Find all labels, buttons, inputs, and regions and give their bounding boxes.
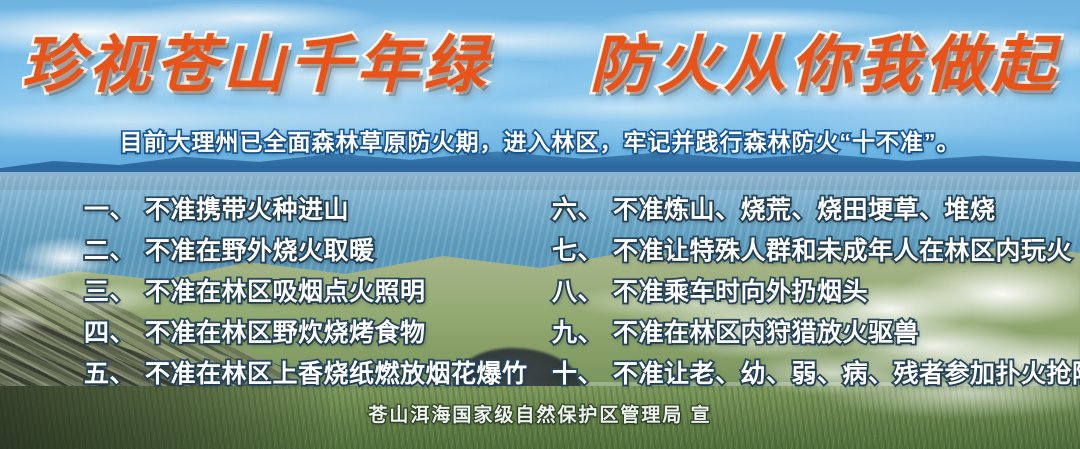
rule-item: 九、不准在林区内狩猎放火驱兽	[552, 313, 1052, 354]
rule-text: 不准让特殊人群和未成年人在林区内玩火	[613, 237, 1072, 265]
rule-number: 八、	[552, 278, 603, 306]
rule-item: 二、不准在野外烧火取暖	[84, 231, 524, 272]
rule-number: 四、	[84, 319, 135, 347]
rule-number: 三、	[84, 278, 135, 306]
rule-item: 六、不准炼山、烧荒、烧田埂草、堆烧	[552, 190, 1052, 231]
headline-right: 防火从你我做起	[590, 28, 1059, 101]
rule-text: 不准携带火种进山	[145, 196, 349, 224]
rule-number: 二、	[84, 237, 135, 265]
rule-text: 不准在林区内狩猎放火驱兽	[613, 319, 919, 347]
rule-number: 十、	[552, 360, 603, 388]
rule-text: 不准在林区野炊烧烤食物	[145, 319, 426, 347]
ten-prohibitions-list: 一、不准携带火种进山 二、不准在野外烧火取暖 三、不准在林区吸烟点火照明 四、不…	[0, 190, 1080, 390]
rule-item: 八、不准乘车时向外扔烟头	[552, 272, 1052, 313]
issuing-authority: 苍山洱海国家级自然保护区管理局 宣	[0, 406, 1080, 425]
rule-text: 不准炼山、烧荒、烧田埂草、堆烧	[613, 196, 996, 224]
rule-text: 不准让老、幼、弱、病、残者参加扑火抢险	[613, 360, 1080, 388]
rule-text: 不准乘车时向外扔烟头	[613, 278, 868, 306]
rule-number: 七、	[552, 237, 603, 265]
headline-left: 珍视苍山千年绿	[21, 28, 490, 101]
rules-column-right: 六、不准炼山、烧荒、烧田埂草、堆烧 七、不准让特殊人群和未成年人在林区内玩火 八…	[552, 190, 1052, 395]
rule-text: 不准在林区上香烧纸燃放烟花爆竹	[145, 360, 528, 388]
poster-headline: 珍视苍山千年绿 防火从你我做起	[0, 34, 1080, 96]
rule-item: 四、不准在林区野炊烧烤食物	[84, 313, 524, 354]
rule-number: 九、	[552, 319, 603, 347]
rule-item: 三、不准在林区吸烟点火照明	[84, 272, 524, 313]
rule-item: 十、不准让老、幼、弱、病、残者参加扑火抢险	[552, 354, 1052, 395]
forest-fire-prevention-poster: 珍视苍山千年绿 防火从你我做起 目前大理州已全面森林草原防火期，进入林区，牢记并…	[0, 0, 1080, 449]
rule-text: 不准在野外烧火取暖	[145, 237, 375, 265]
poster-subtitle: 目前大理州已全面森林草原防火期，进入林区，牢记并践行森林防火“十不准”。	[0, 131, 1080, 154]
rules-column-left: 一、不准携带火种进山 二、不准在野外烧火取暖 三、不准在林区吸烟点火照明 四、不…	[84, 190, 524, 395]
rule-text: 不准在林区吸烟点火照明	[145, 278, 426, 306]
rule-item: 五、不准在林区上香烧纸燃放烟花爆竹	[84, 354, 524, 395]
rule-number: 一、	[84, 196, 135, 224]
rule-item: 七、不准让特殊人群和未成年人在林区内玩火	[552, 231, 1052, 272]
rule-number: 六、	[552, 196, 603, 224]
rule-number: 五、	[84, 360, 135, 388]
rule-item: 一、不准携带火种进山	[84, 190, 524, 231]
